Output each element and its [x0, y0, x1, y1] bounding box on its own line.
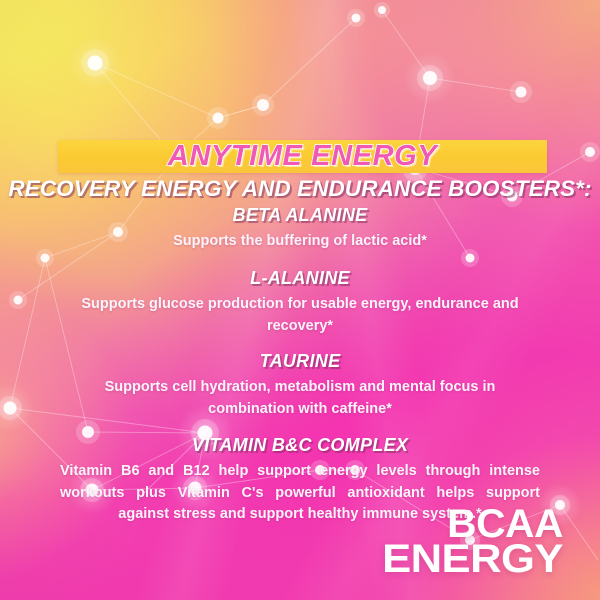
ingredient-list: BETA ALANINE Supports the buffering of l… — [0, 205, 600, 526]
ingredient-block-beta-alanine: BETA ALANINE Supports the buffering of l… — [0, 205, 600, 253]
brand-logo-line-2: ENERGY — [382, 542, 563, 576]
ingredient-description: Supports glucose production for usable e… — [80, 294, 520, 338]
ingredient-name: L-ALANINE — [0, 268, 600, 289]
ingredient-block-taurine: TAURINE Supports cell hydration, metabol… — [0, 351, 600, 421]
ingredient-block-l-alanine: L-ALANINE Supports glucose production fo… — [0, 268, 600, 338]
brand-logo: BCAA ENERGY — [397, 507, 563, 576]
ingredient-description: Supports cell hydration, metabolism and … — [90, 377, 510, 421]
poster-canvas: ANYTIME ENERGY RECOVERY ENERGY AND ENDUR… — [0, 0, 600, 600]
ingredient-name: TAURINE — [0, 351, 600, 372]
spacer — [0, 337, 600, 351]
subtitle-heading: RECOVERY ENERGY AND ENDURANCE BOOSTERS*: — [0, 176, 600, 202]
spacer — [0, 253, 600, 268]
ingredient-description: Supports the buffering of lactic acid* — [85, 231, 515, 253]
spacer — [0, 421, 600, 435]
title-banner-text: ANYTIME ENERGY — [58, 138, 547, 175]
ingredient-name: VITAMIN B&C COMPLEX — [0, 435, 600, 456]
ingredient-name: BETA ALANINE — [0, 205, 600, 226]
